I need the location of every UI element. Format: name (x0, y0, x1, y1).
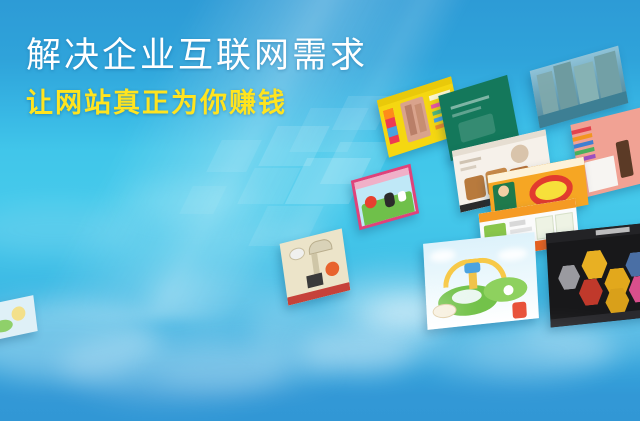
showcase-card-green-island[interactable] (423, 232, 539, 330)
showcase-card-beige-doodle[interactable] (280, 228, 351, 305)
hero-text-block: 解决企业互联网需求 让网站真正为你赚钱 (26, 38, 406, 117)
showcase-card-pink-cartoon[interactable] (351, 164, 419, 231)
showcase-card-small-left[interactable] (0, 295, 38, 341)
showcase-card-dark-gaming[interactable] (546, 222, 640, 327)
page-title: 解决企业互联网需求 (26, 38, 406, 73)
page-subtitle: 让网站真正为你赚钱 (26, 90, 406, 117)
banner-canvas: 解决企业互联网需求 让网站真正为你赚钱 (0, 0, 640, 421)
